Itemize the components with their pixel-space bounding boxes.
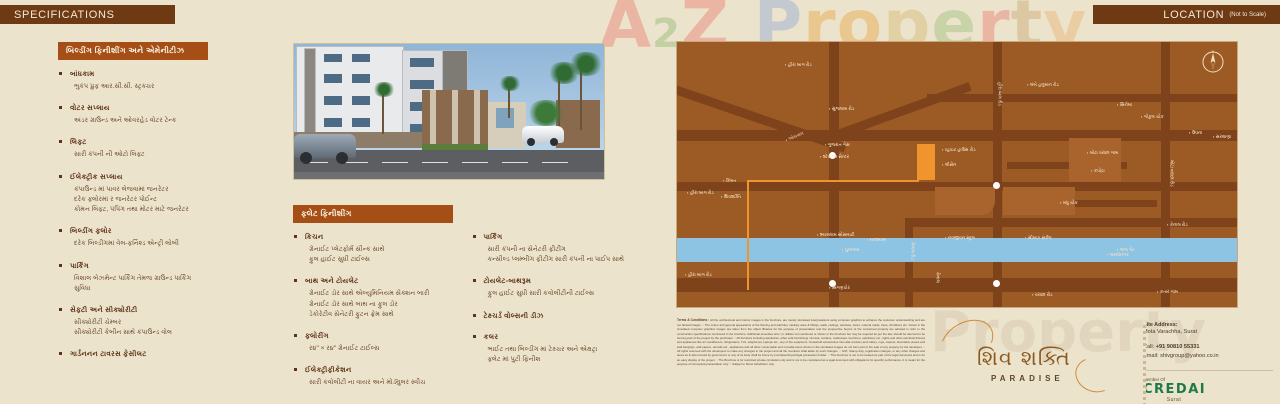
building-specifications-panel: બિલ્ડીંગ ફિનીશીંગ અને એમેનીટીઝ બાંધકામભુ…	[58, 42, 208, 370]
flat-spec-list-left: કિચનગ્રેનાઈટ પ્લેટફોર્મ સીન્ક સાથેફુલ હા…	[293, 232, 458, 389]
map-label-vertical: હીરા બાગ રોડ	[997, 82, 1003, 106]
spec-item-detail: સારી કંપની ના સેનેટરી ફીટીંગ	[484, 245, 637, 255]
flat-specifications-panel: ફ્લેટ ફિનીશીંગ કિચનગ્રેનાઈટ પ્લેટફોર્મ સ…	[293, 205, 636, 400]
map-label: મધુ ચોક	[1060, 200, 1078, 206]
spec-item-detail: ફુલ હાઈટ સુધી ટાઈલ્સ	[305, 255, 458, 265]
map-plot-leader-line	[747, 180, 749, 290]
spec-item-detail: અંડર ગ્રાઉન્ડ અને ઓવરહેડ વોટર ટેન્ક	[70, 116, 208, 126]
spec-item-heading: ટોયલેટ-બાથરૂમ	[484, 276, 637, 286]
contact-block: Site Address: Mota Varachha, Surat Call:…	[1143, 322, 1273, 403]
map-label: ઉધના	[1189, 130, 1202, 136]
map-road-vertical	[829, 42, 839, 307]
map-junction-node	[993, 280, 1000, 287]
spec-item-heading: લિફ્ટ	[70, 137, 208, 147]
map-label: લીસેન	[942, 162, 956, 168]
spec-item-detail: ગ્રેનાઈટ ડોર સાથે એલ્યુમિનિયમ સેક્શન બાર…	[305, 289, 458, 299]
location-subtitle: (Not to Scale)	[1229, 12, 1266, 18]
spec-item: બિલ્ડીંગ ફ્લોરદરેક બિલ્ડીંગમાં વેલ-ફર્નિ…	[58, 226, 208, 249]
specifications-header-label: SPECIFICATIONS	[0, 5, 175, 24]
spec-item-detail: ભાઈટ તથા બિલ્ડીંગ માં ટેક્ષ્ચર અને એક્ષટ…	[484, 345, 637, 355]
spec-item-heading: ઈલેક્ટ્રીફીકેશન	[305, 365, 458, 375]
spec-item-detail: કન્સીલ્ડ પ્લમ્બીંગ ફીટીંગ સારી કંપની ના …	[484, 255, 637, 265]
map-label-vertical: મોટા વરાછા રોડ	[1169, 160, 1175, 187]
map-plot-leader-line	[747, 180, 919, 182]
watermark-letter: A	[600, 0, 652, 63]
spec-item-heading: બિલ્ડીંગ ફ્લોર	[70, 226, 208, 236]
gate-pillar	[430, 90, 436, 148]
spec-item: ટેક્ષ્ચર્ડ વોલ્સની ડીઝ	[472, 311, 637, 321]
window	[410, 80, 434, 89]
logo-swirl	[1070, 352, 1119, 398]
spec-item-heading: વોટર સપ્લાય	[70, 103, 208, 113]
map-label: સીમાડા સર્કલ	[1025, 235, 1052, 241]
map-road-vertical	[905, 218, 913, 307]
guard-cabin-window	[496, 108, 514, 128]
map-label: કિંમત	[723, 178, 736, 184]
map-label: કતાર ગામ	[1157, 289, 1178, 295]
window	[352, 96, 370, 105]
spec-item: કિચનગ્રેનાઈટ પ્લેટફોર્મ સીન્ક સાથેફુલ હા…	[293, 232, 458, 265]
logo-name: શિવ શક્તિ	[977, 346, 1071, 371]
brochure-page: A2Z Property Property SPECIFICATIONS LOC…	[0, 0, 1280, 404]
spec-item-detail: ફુલ હાઈટ સુધી સારી કવોલીટીની ટાઈલ્સ	[484, 289, 637, 299]
perforation-edge	[1143, 322, 1146, 404]
spec-item-heading: ગાર્ડનનન ટાવરસ ફેસીલટ	[70, 349, 208, 359]
gate-pillar	[452, 90, 458, 148]
credai-membership: Member Of CREDAI Surat	[1143, 370, 1273, 403]
map-label: ગુજરાત ગેસ	[825, 142, 850, 148]
spec-item-heading: ટેક્ષ્ચર્ડ વોલ્સની ડીઝ	[484, 311, 637, 321]
map-road-horizontal	[927, 94, 1237, 102]
map-label: સિનેમા	[1117, 102, 1132, 108]
map-label: લંબે હનુમાન રોડ	[1027, 82, 1059, 88]
spec-item-heading: સેફ્ટી અને સીક્યોરીટી	[70, 305, 208, 315]
map-label: વ્હાઇટ હાઉસ રોડ	[942, 147, 975, 153]
map-label: નવજીવન સ્કૂલ	[945, 235, 975, 241]
building-spec-list: બાંધકામભુકંપ પ્રુફ આર.સી.સી. સ્ટ્રક્ચરવો…	[58, 69, 208, 359]
spec-item: ઈલેક્ટ્રીફીકેશનસારી કવોલીટી ના વાયર અને …	[293, 365, 458, 388]
gate-pillar	[474, 90, 480, 148]
road-marking	[382, 162, 408, 163]
map-label: કપોદ્રા	[1091, 168, 1105, 174]
map-label: પુનાગામ	[842, 247, 860, 253]
spec-item: પાર્કિંગવિશાલ બેઝમેન્ટ પાર્કિંગ તેમજ ગ્ર…	[58, 261, 208, 294]
credai-city: Surat	[1143, 397, 1205, 403]
location-header-label: LOCATION (Not to Scale)	[1093, 5, 1280, 24]
site-address-value: Mota Varachha, Surat	[1143, 328, 1273, 337]
spec-item: ગાર્ડનનન ટાવરસ ફેસીલટ	[58, 349, 208, 359]
phone-number[interactable]: +91 90810 55331	[1156, 344, 1200, 350]
car-wheel	[527, 138, 535, 146]
location-title: LOCATION	[1163, 9, 1224, 21]
spec-item-detail: વિશાલ બેઝમેન્ટ પાર્કિંગ તેમજ ગ્રાઉન્ડ પા…	[70, 274, 208, 294]
map-label: સરથાણા	[1213, 134, 1231, 140]
spec-item-detail: સારી કવોલીટી ના વાયર અને મોડ્યુલર સ્વીચ	[305, 378, 458, 388]
terms-heading: Terms & Conditions :	[677, 318, 709, 322]
map-road-diagonal	[677, 82, 847, 152]
window	[324, 74, 342, 83]
window	[352, 54, 370, 62]
car-wheel	[336, 152, 348, 164]
location-header: LOCATION (Not to Scale)	[1093, 5, 1280, 24]
road-marking	[502, 162, 528, 163]
spec-item-detail: ગ્રેનાઈટ ડોર સાથે બાથ ના ફુલ ડોર	[305, 300, 458, 310]
spec-item-detail: સારી કંપની ની ઓટો લિફ્ટ	[70, 150, 208, 160]
map-label-vertical: કેનાલ	[935, 272, 941, 283]
map-label: શિવશક્તિ	[721, 194, 741, 200]
terms-and-conditions: Terms & Conditions : All the architectur…	[677, 318, 925, 366]
car-wheel	[550, 138, 558, 146]
map-block	[1069, 138, 1121, 182]
palm-tree-crown	[568, 52, 604, 76]
map-label: લક્ષ્મીનગર	[1107, 252, 1129, 258]
spec-item: ટોયલેટ-બાથરૂમફુલ હાઈટ સુધી સારી કવોલીટીન…	[472, 276, 637, 299]
location-map[interactable]: ઓસવાલકિંમતશોપીંગ્સ સેન્ટરવ્હાઇટ હાઉસ રોડ…	[677, 42, 1237, 307]
spec-item-heading: કિચન	[305, 232, 458, 242]
map-label: વરાછા રોડ	[1032, 292, 1052, 298]
flat-panel-title: ફ્લેટ ફિનીશીંગ	[293, 205, 453, 223]
spec-item-detail: કંપાઉન્ડ માં પાવર લેજવામાં જનરેટર	[70, 185, 208, 195]
compass-rose-icon: N	[1201, 50, 1225, 74]
map-label: ગોકુલ ચોક	[1141, 114, 1164, 120]
window	[324, 96, 342, 105]
logo-subtitle: PARADISE	[991, 374, 1064, 383]
spec-item-heading: પાર્કિંગ	[70, 261, 208, 271]
building-panel-title: બિલ્ડીંગ ફિનીશીંગ અને એમેનીટીઝ	[58, 42, 208, 60]
spec-item-heading: કલર	[484, 332, 637, 342]
spec-item-detail: દરેક બિલ્ડીંગમાં વેલ-ફર્નિશ્ડ એન્ટ્રી લો…	[70, 239, 208, 249]
map-canal-water	[677, 238, 1237, 262]
svg-text:N: N	[1212, 50, 1215, 54]
spec-item-detail: સીક્યોરીટી ચેમ્બર	[70, 318, 208, 328]
spec-item-detail: ફ્લેટ માં પુટી ફિનીશ	[484, 355, 637, 365]
spec-item-heading: ફ્લોરીંગ	[305, 331, 458, 341]
map-road-horizontal	[677, 130, 1237, 141]
spec-item: ઈલેક્ટ્રીક સપ્લાયકંપાઉન્ડ માં પાવર લેજવા…	[58, 172, 208, 216]
spec-item: લિફ્ટસારી કંપની ની ઓટો લિફ્ટ	[58, 137, 208, 160]
map-road-horizontal	[677, 278, 1237, 292]
building-rendering-image	[293, 43, 605, 180]
car-wheel	[300, 152, 312, 164]
balcony-column	[304, 48, 316, 142]
map-label: ઘનશ્યામ	[867, 237, 886, 243]
spec-item-heading: બાથ અને ટોયલેટ	[305, 276, 458, 286]
spec-item: ફ્લોરીંગર૪" × ર૪" ગ્રેનાઈટ ટાઈલ્સ	[293, 331, 458, 354]
map-label: હીરા બાગ રોડ	[785, 62, 812, 68]
road-marking	[422, 162, 448, 163]
spec-item: કલરભાઈટ તથા બિલ્ડીંગ માં ટેક્ષ્ચર અને એક…	[472, 332, 637, 365]
spec-item-detail: દરેક ફ્લોરમાં ર જનરેટર પોઈન્ટ	[70, 195, 208, 205]
spec-item: સેફ્ટી અને સીક્યોરીટીસીક્યોરીટી ચેમ્બરસી…	[58, 305, 208, 338]
terms-body: All the architectural and interior image…	[677, 318, 925, 366]
road-shoulder	[294, 172, 604, 180]
spec-item-heading: બાંધકામ	[70, 69, 208, 79]
spec-item-detail: સીક્યોરીટી કેબીન સાથે કંપાઉન્ડ વોલ	[70, 328, 208, 338]
map-label: મોટા વરાછા ગામ	[1087, 150, 1118, 156]
road-marking	[542, 162, 568, 163]
map-label: સિંગણપોર	[829, 285, 850, 291]
palm-tree-crown	[372, 82, 396, 97]
map-label: સુજલામ રોડ	[829, 106, 854, 112]
map-project-plot[interactable]	[917, 144, 935, 180]
spec-item-heading: ઈલેક્ટ્રીક સપ્લાય	[70, 172, 208, 182]
map-label: હીરા બાગ રોડ	[687, 190, 714, 196]
flat-spec-list-right: પાર્કિંગસારી કંપની ના સેનેટરી ફીટીંગકન્સ…	[472, 232, 637, 365]
window	[324, 118, 342, 127]
map-label-vertical: કેનાલ રોડ	[910, 242, 916, 260]
spec-item-detail: કોમન લિફ્ટ, પંપિંગ તથા મોટર માટે જનરેટર	[70, 205, 208, 215]
spec-item: બાંધકામભુકંપ પ્રુફ આર.સી.સી. સ્ટ્રક્ચર	[58, 69, 208, 92]
road-marking	[462, 162, 488, 163]
spec-item-detail: ભુકંપ પ્રુફ આર.સી.સી. સ્ટ્રક્ચર	[70, 82, 208, 92]
map-junction-node	[993, 182, 1000, 189]
spec-item-detail: ર૪" × ર૪" ગ્રેનાઈટ ટાઈલ્સ	[305, 344, 458, 354]
shrub	[526, 100, 566, 126]
palm-tree-crown	[498, 76, 522, 91]
spec-item-detail: ડેકોરેટીવ સેનેટરી ફુટન ફ્રેમ સાથે	[305, 310, 458, 320]
spec-item: વોટર સપ્લાયઅંડર ગ્રાઉન્ડ અને ઓવરહેડ વોટર…	[58, 103, 208, 126]
spec-item-heading: પાર્કિંગ	[484, 232, 637, 242]
map-block	[935, 187, 995, 215]
specifications-header: SPECIFICATIONS	[0, 5, 175, 24]
window	[324, 54, 342, 62]
map-label: શોપીંગ્સ સેન્ટર	[820, 154, 849, 160]
map-label: શ્યામધામ સોસાયટી	[817, 232, 855, 238]
credai-logo-text: CREDAI	[1143, 382, 1273, 397]
window	[352, 118, 370, 127]
project-logo: શિવ શક્તિ PARADISE	[935, 318, 1125, 402]
map-label: હીરા બાગ રોડ	[685, 272, 712, 278]
map-label: કેનાલ રોડ	[1167, 222, 1188, 228]
spec-item: બાથ અને ટોયલેટગ્રેનાઈટ ડોર સાથે એલ્યુમિન…	[293, 276, 458, 320]
spec-item-detail: ગ્રેનાઈટ પ્લેટફોર્મ સીન્ક સાથે	[305, 245, 458, 255]
email-address[interactable]: shivgroup@yahoo.co.in	[1160, 353, 1219, 359]
window	[410, 58, 434, 67]
window	[352, 74, 370, 83]
spec-item: પાર્કિંગસારી કંપની ના સેનેટરી ફીટીંગકન્સ…	[472, 232, 637, 265]
